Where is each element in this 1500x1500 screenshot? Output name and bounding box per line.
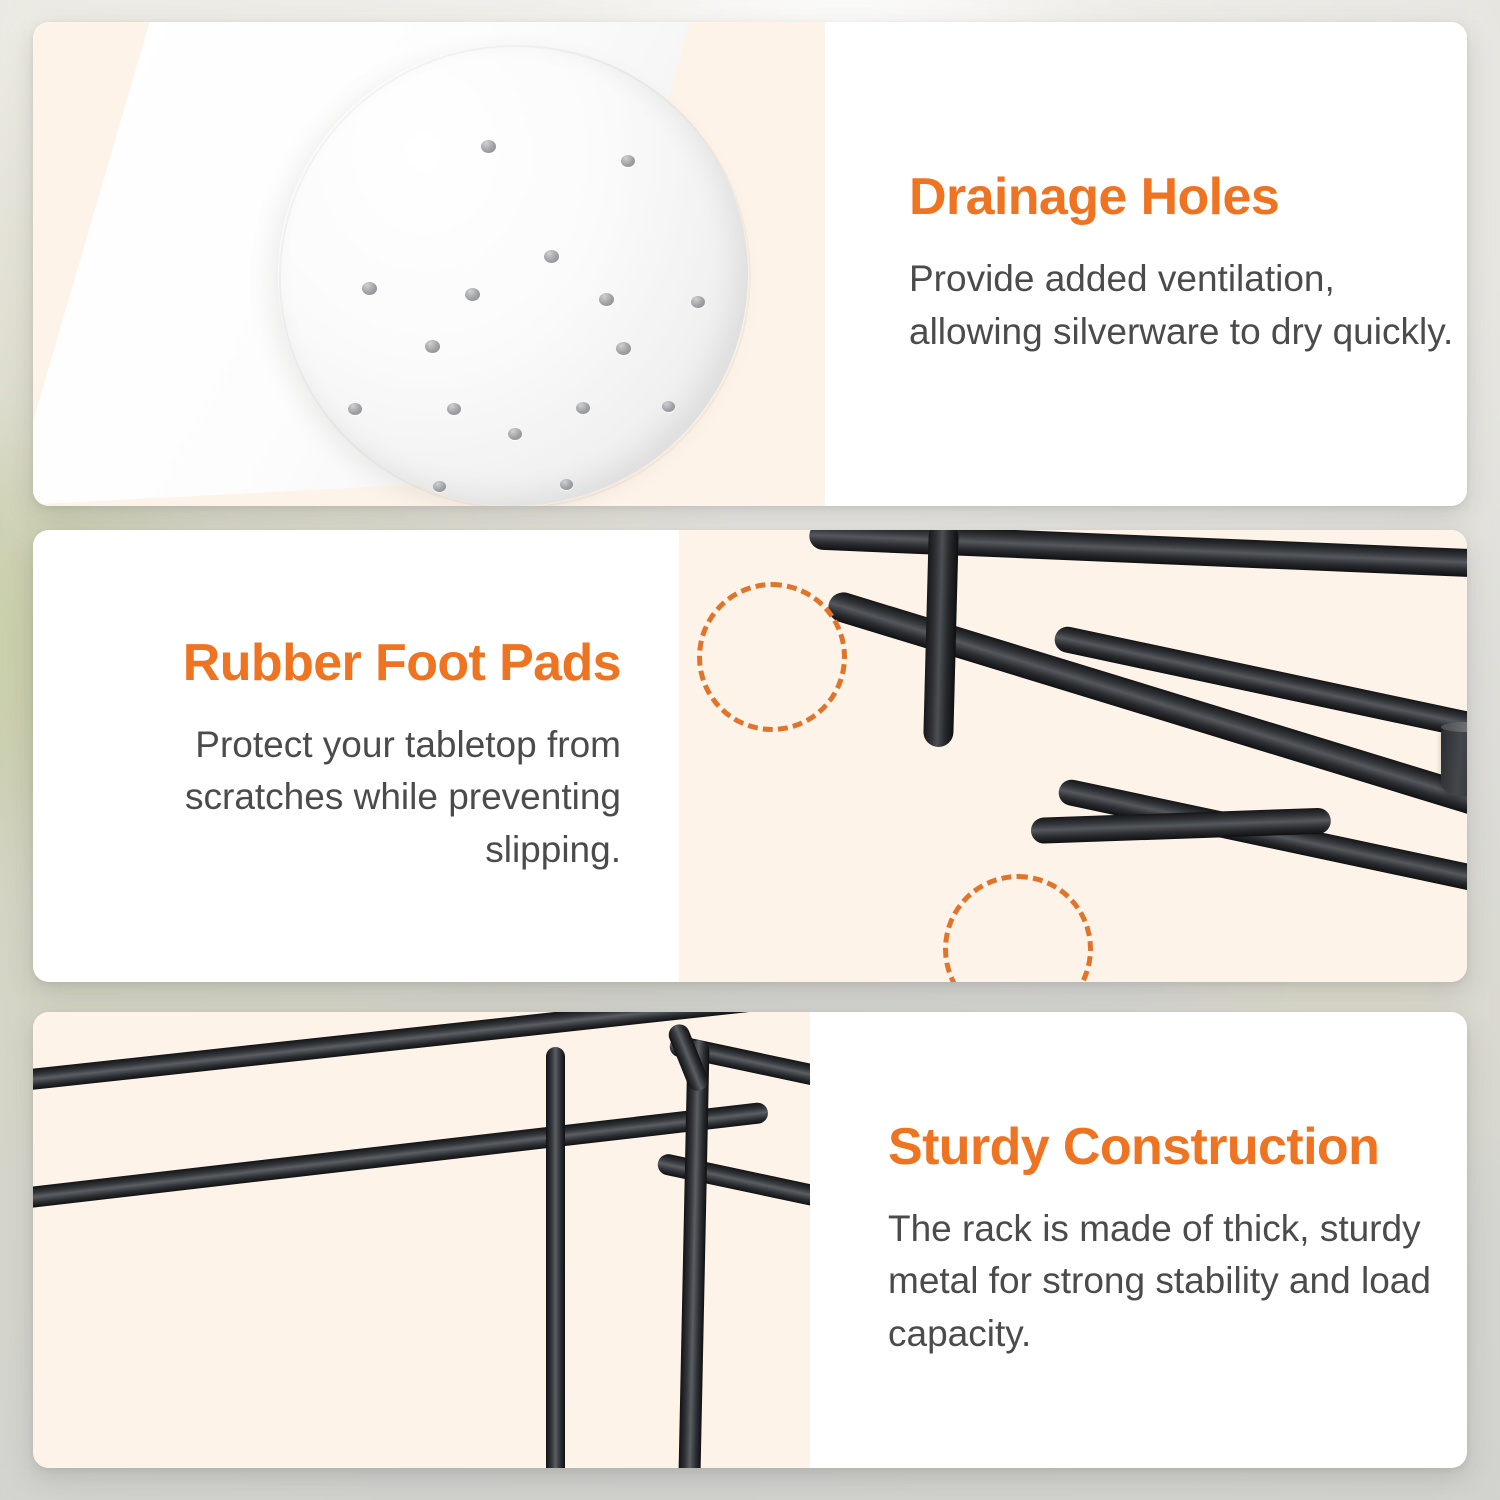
rack-post-outer xyxy=(674,1040,709,1468)
drainage-hole xyxy=(662,401,675,412)
rack-rail-top-inner xyxy=(33,1102,769,1211)
sturdy-construction-heading: Sturdy Construction xyxy=(888,1120,1467,1175)
sturdy-construction-photo xyxy=(33,1012,810,1468)
product-feature-infographic: Drainage Holes Provide added ventilation… xyxy=(0,0,1500,1500)
highlight-ring xyxy=(697,582,847,732)
drainage-hole xyxy=(447,403,461,415)
rack-post-inner xyxy=(546,1047,565,1468)
rack-rail-top-cross-lower xyxy=(656,1152,810,1214)
drainage-hole xyxy=(433,481,446,492)
drainage-holes-heading: Drainage Holes xyxy=(909,170,1467,225)
feature-card-rubber-foot-pads: Rubber Foot Pads Protect your tabletop f… xyxy=(33,530,1467,982)
drainage-hole xyxy=(425,340,440,353)
rubber-foot-pads-heading: Rubber Foot Pads xyxy=(183,636,621,691)
metal-rail-top xyxy=(809,530,1467,579)
drainage-hole xyxy=(544,250,559,263)
feature-card-drainage-holes: Drainage Holes Provide added ventilation… xyxy=(33,22,1467,506)
drainage-hole xyxy=(465,288,480,301)
sturdy-construction-body: The rack is made of thick, sturdy metal … xyxy=(888,1203,1448,1361)
feature-card-sturdy-construction: Sturdy Construction The rack is made of … xyxy=(33,1012,1467,1468)
drainage-hole xyxy=(560,479,573,490)
drainage-holes-copy: Drainage Holes Provide added ventilation… xyxy=(825,22,1467,506)
drainage-hole xyxy=(348,403,362,415)
highlight-ring xyxy=(943,874,1093,982)
drainage-hole xyxy=(508,428,522,440)
drainage-holes-photo xyxy=(33,22,825,506)
drainage-hole xyxy=(362,282,377,295)
sturdy-construction-copy: Sturdy Construction The rack is made of … xyxy=(810,1012,1467,1468)
drainage-hole xyxy=(621,155,635,167)
drainage-hole xyxy=(576,402,590,414)
drainage-hole xyxy=(691,296,705,308)
drainage-hole xyxy=(481,140,496,153)
drainage-holes-body: Provide added ventilation, allowing silv… xyxy=(909,253,1467,358)
rubber-foot-pads-photo xyxy=(679,530,1467,982)
drainage-hole xyxy=(599,293,614,306)
rubber-foot-pads-body: Protect your tabletop from scratches whi… xyxy=(61,719,621,877)
rubber-foot-pad xyxy=(1441,726,1467,796)
drainage-hole xyxy=(616,342,631,355)
metal-leg-left xyxy=(923,530,959,747)
rubber-foot-pads-copy: Rubber Foot Pads Protect your tabletop f… xyxy=(33,530,679,982)
